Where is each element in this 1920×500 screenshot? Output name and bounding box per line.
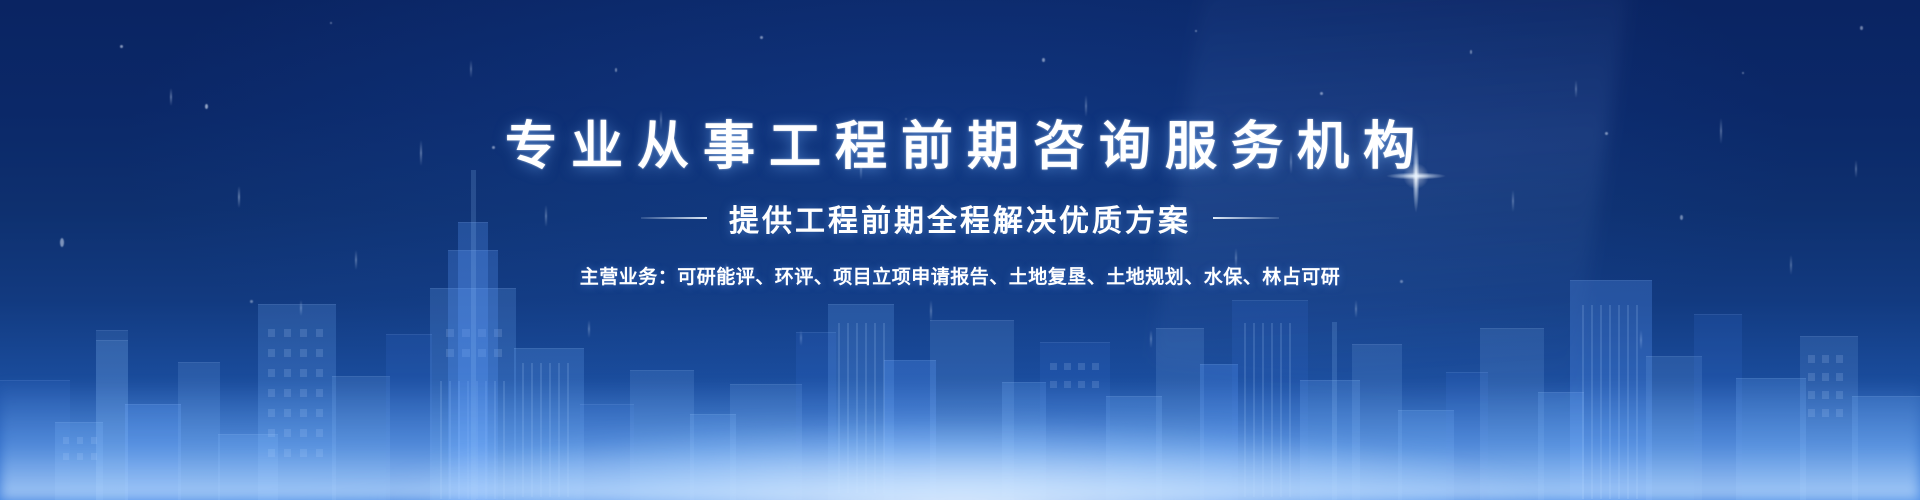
- page-subtitle: 提供工程前期全程解决优质方案: [729, 196, 1191, 240]
- bottom-fade: [0, 380, 1920, 500]
- page-title: 专业从事工程前期咨询服务机构: [0, 118, 1920, 178]
- hero-banner: 专业从事工程前期咨询服务机构 提供工程前期全程解决优质方案 主营业务：可研能评、…: [0, 0, 1920, 500]
- services-list: 主营业务：可研能评、环评、项目立项申请报告、土地复垦、土地规划、水保、林占可研: [0, 262, 1920, 289]
- divider-dash-left: [641, 217, 707, 219]
- subtitle-row: 提供工程前期全程解决优质方案: [0, 196, 1920, 240]
- hero-text-block: 专业从事工程前期咨询服务机构 提供工程前期全程解决优质方案 主营业务：可研能评、…: [0, 0, 1920, 289]
- divider-dash-right: [1213, 217, 1279, 219]
